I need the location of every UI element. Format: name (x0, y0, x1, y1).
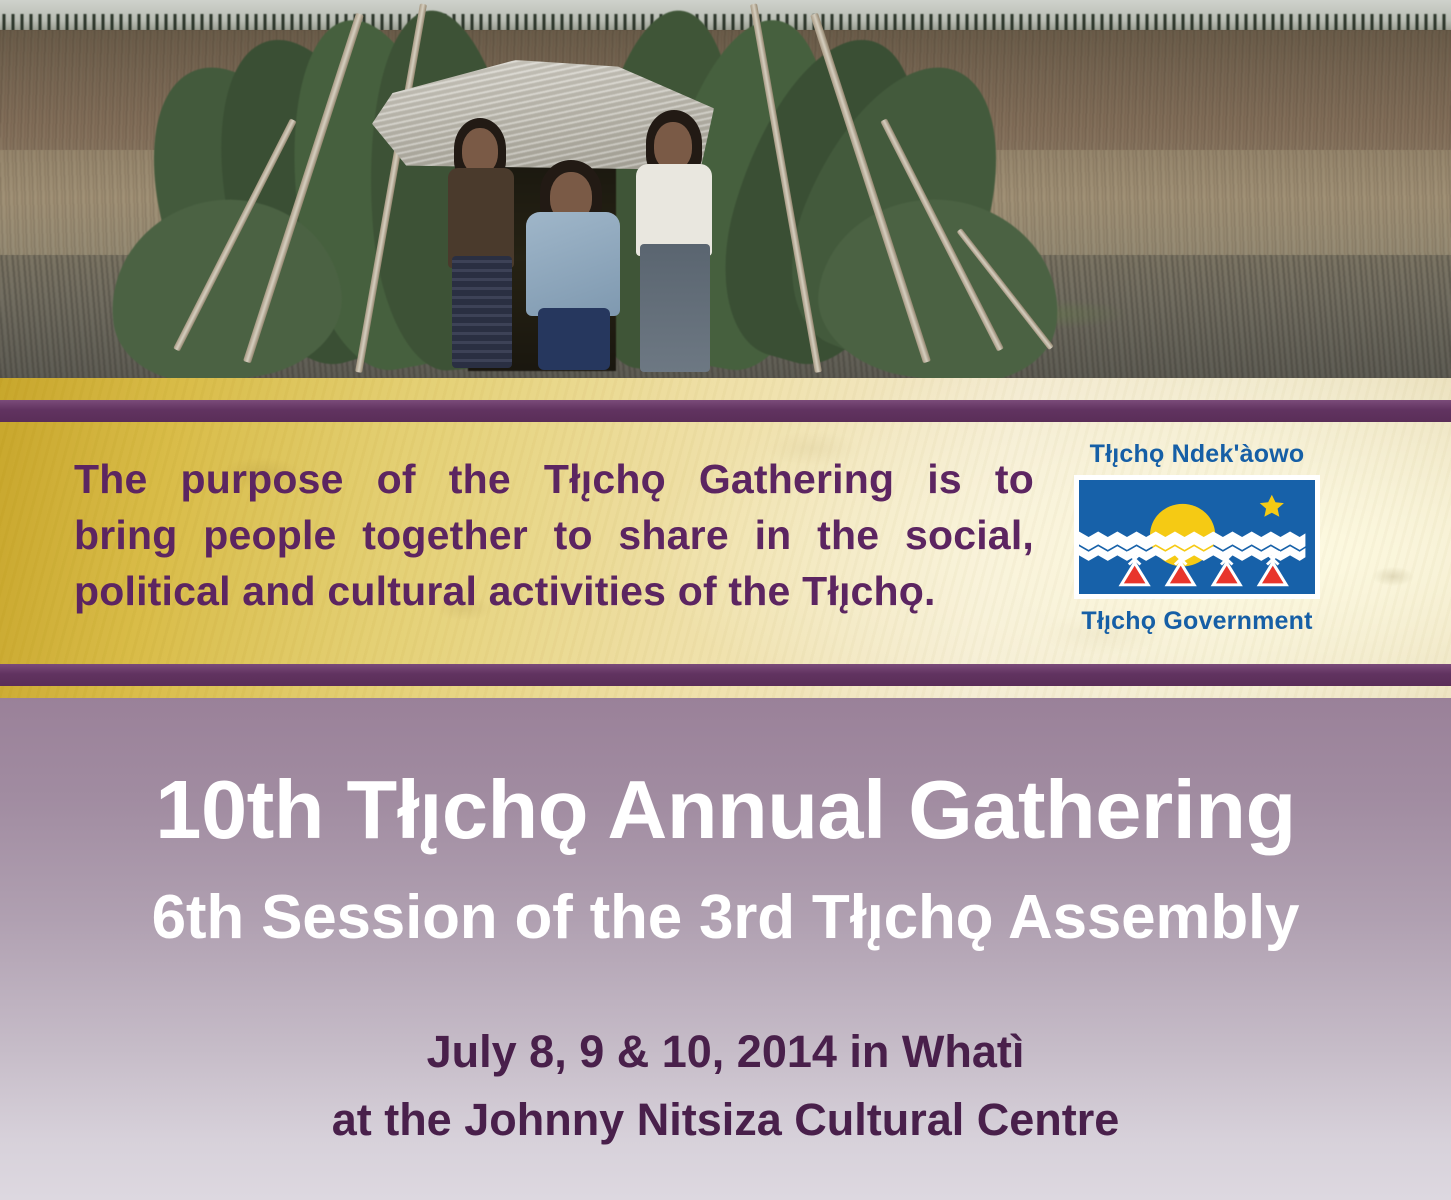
divider-stripe-bottom (0, 664, 1451, 686)
event-venue: at the Johnny Nitsiza Cultural Centre (0, 1094, 1451, 1146)
logo-top-label: Tłı̨chǫ Ndek'àowo (1062, 440, 1332, 469)
event-title: 10th Tłı̨chǫ Annual Gathering (0, 762, 1451, 858)
header-photo (0, 0, 1451, 378)
logo-bottom-label: Tłı̨chǫ Government (1062, 607, 1332, 636)
person-left (438, 118, 528, 368)
purpose-line-1: The purpose of the Tłı̨chǫ Gathering is … (74, 452, 1034, 508)
person-center (520, 160, 630, 370)
tlicho-government-logo: Tłı̨chǫ Ndek'àowo (1062, 440, 1332, 636)
purpose-line-3: political and cultural activities of the… (74, 564, 1034, 620)
tlicho-flag (1074, 475, 1320, 599)
purpose-line-2: bring people together to share in the so… (74, 508, 1034, 564)
event-subtitle: 6th Session of the 3rd Tłı̨chǫ Assembly (0, 882, 1451, 953)
person-right (628, 110, 724, 372)
spruce-lodge (120, 0, 1120, 378)
divider-stripe-top (0, 400, 1451, 422)
flag-graphic (1079, 480, 1315, 594)
purpose-statement: The purpose of the Tłı̨chǫ Gathering is … (74, 452, 1034, 619)
poster: The purpose of the Tłı̨chǫ Gathering is … (0, 0, 1451, 1200)
event-date: July 8, 9 & 10, 2014 in Whatì (0, 1026, 1451, 1078)
